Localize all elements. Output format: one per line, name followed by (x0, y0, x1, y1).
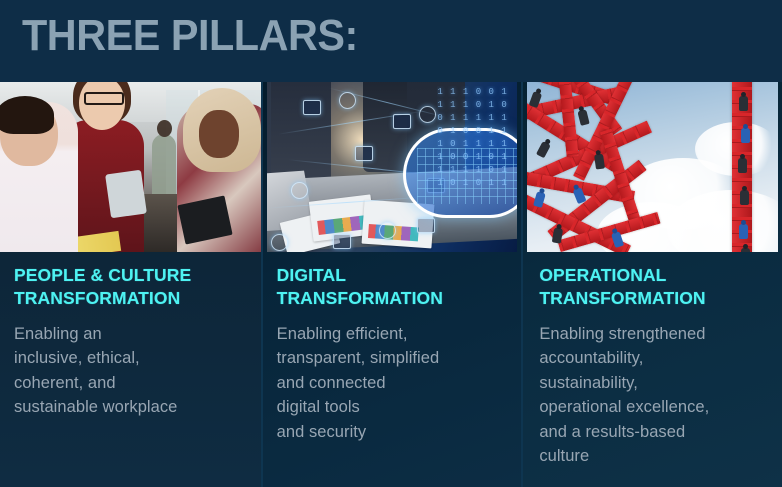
device-icon (303, 100, 321, 115)
mail-icon (393, 114, 411, 129)
chart-icon (419, 106, 436, 123)
pillar-column-digital: 1 1 1 0 0 1 1 1 1 0 1 0 0 1 1 1 1 1 0 1 … (261, 82, 522, 487)
pillar-text-digital: DIGITAL TRANSFORMATION Enabling efficien… (277, 264, 512, 444)
pillar-photo-people-culture (0, 82, 261, 252)
network-icon (271, 234, 288, 251)
three-pillars-slide: THREE PILLARS: (0, 0, 782, 487)
card-icon (355, 146, 373, 161)
pillar-column-operational: OPERATIONAL TRANSFORMATION Enabling stre… (521, 82, 782, 487)
pillars-columns: PEOPLE & CULTURE TRANSFORMATION Enabling… (0, 82, 782, 487)
title-band: THREE PILLARS: (0, 0, 782, 82)
pillar-photo-operational (523, 82, 782, 252)
pillar-body-digital: Enabling efficient, transparent, simplif… (277, 322, 512, 445)
pillar-body-operational: Enabling strengthened accountability, su… (539, 322, 772, 469)
digital-meeting-image: 1 1 1 0 0 1 1 1 1 0 1 0 0 1 1 1 1 1 0 1 … (267, 82, 518, 252)
pillar-text-people-culture: PEOPLE & CULTURE TRANSFORMATION Enabling… (14, 264, 251, 420)
refresh-icon (291, 182, 308, 199)
pillar-heading-operational: OPERATIONAL TRANSFORMATION (539, 264, 772, 311)
red-ladders-image (527, 82, 778, 252)
pillar-heading-digital: DIGITAL TRANSFORMATION (277, 264, 512, 311)
pillar-text-operational: OPERATIONAL TRANSFORMATION Enabling stre… (539, 264, 772, 469)
page-title: THREE PILLARS: (22, 11, 358, 60)
binary-overlay: 1 1 1 0 0 1 1 1 1 0 1 0 0 1 1 1 1 1 0 1 … (437, 86, 515, 246)
monitor-icon (333, 234, 351, 249)
pillar-heading-people-culture: PEOPLE & CULTURE TRANSFORMATION (14, 264, 251, 311)
pillar-photo-digital: 1 1 1 0 0 1 1 1 1 0 1 0 0 1 1 1 1 1 0 1 … (263, 82, 522, 252)
pillar-column-people-culture: PEOPLE & CULTURE TRANSFORMATION Enabling… (0, 82, 261, 487)
location-icon (379, 222, 396, 239)
office-people-image (0, 82, 261, 252)
pillar-body-people-culture: Enabling an inclusive, ethical, coherent… (14, 322, 251, 420)
globe-icon (339, 92, 356, 109)
envelope-icon (417, 218, 435, 233)
